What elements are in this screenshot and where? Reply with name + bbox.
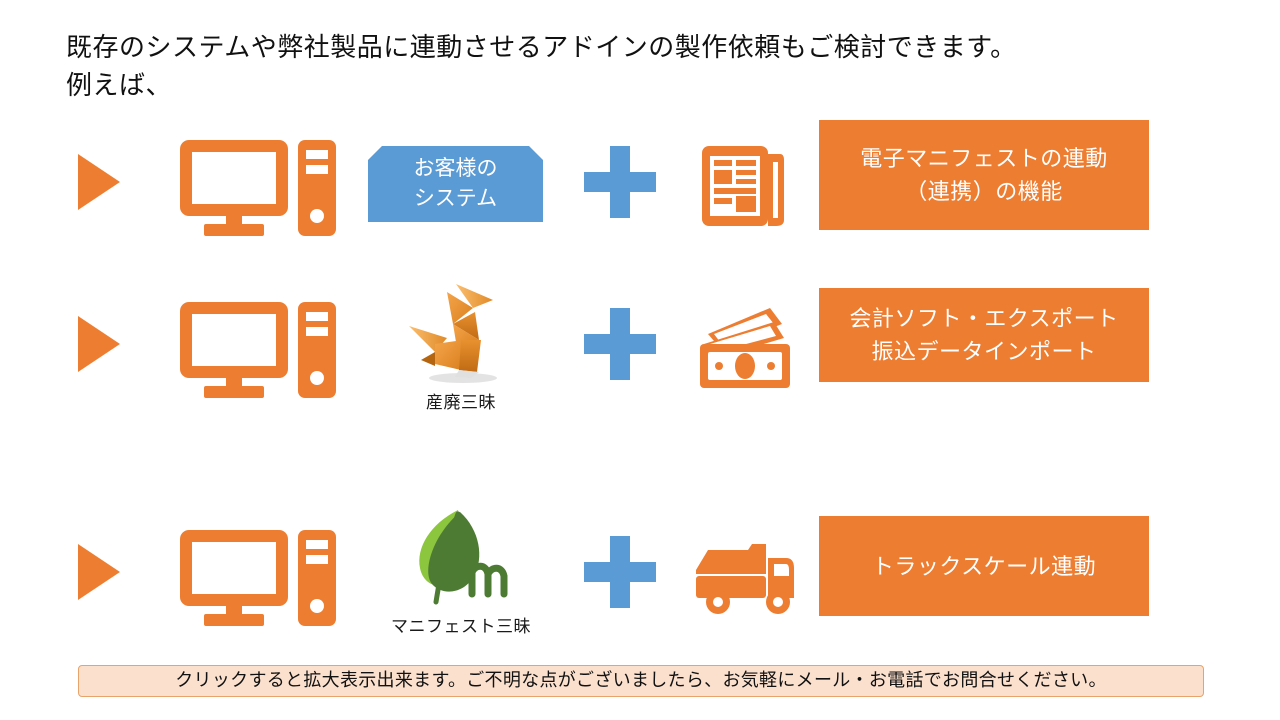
product-logo-caption: 産廃三昧 <box>366 388 556 413</box>
plus-icon <box>584 308 660 384</box>
plus-icon <box>584 146 660 222</box>
product-slot: 産廃三昧 <box>366 272 556 442</box>
page-heading: 既存のシステムや弊社製品に連動させるアドインの製作依頼もご検討できます。 例えば… <box>66 28 1166 104</box>
product-slot: マニフェスト三昧 <box>366 500 556 670</box>
feature-row: 産廃三昧 会計ソフト・エクスポート 振込データインポート <box>0 272 1280 442</box>
result-box[interactable]: 会計ソフト・エクスポート 振込データインポート <box>819 288 1149 382</box>
origami-crane-logo <box>366 278 556 386</box>
dump-truck-icon <box>690 528 800 624</box>
desktop-computer-icon <box>178 138 338 238</box>
feature-row: マニフェスト三昧 トラックスケール連動 <box>0 500 1280 670</box>
plus-icon <box>584 536 660 612</box>
triangle-right-icon <box>78 544 134 604</box>
product-logo-caption: マニフェスト三昧 <box>366 612 556 637</box>
product-logo-wrap[interactable]: マニフェスト三昧 <box>366 506 556 637</box>
newspaper-icon <box>690 138 800 234</box>
notice-bar: クリックすると拡大表示出来ます。ご不明な点がございましたら、お気軽にメール・お電… <box>78 665 1204 697</box>
triangle-right-icon <box>78 316 134 376</box>
customer-system-banner[interactable]: お客様の システム <box>368 146 543 222</box>
product-logo-wrap[interactable]: 産廃三昧 <box>366 278 556 413</box>
product-slot: お客様の システム <box>366 110 556 280</box>
desktop-computer-icon <box>178 300 338 400</box>
result-box[interactable]: トラックスケール連動 <box>819 516 1149 616</box>
feature-row: お客様の システム 電子マニフェストの連動 （連携）の機能 <box>0 110 1280 280</box>
desktop-computer-icon <box>178 528 338 628</box>
leaf-m-logo <box>366 506 556 610</box>
result-box[interactable]: 電子マニフェストの連動 （連携）の機能 <box>819 120 1149 230</box>
banknotes-icon <box>690 300 800 396</box>
triangle-right-icon <box>78 154 134 214</box>
